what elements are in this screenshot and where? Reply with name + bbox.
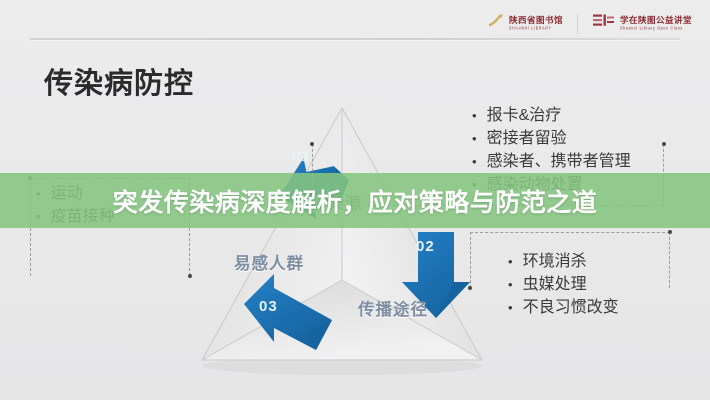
list-item: •报卡&治疗 <box>472 104 631 127</box>
arrow-number-01: 01 <box>292 148 311 165</box>
arrow-number-03: 03 <box>259 298 278 315</box>
callout-endpoint-route <box>668 230 672 234</box>
library-logo-text: 陕西省图书馆 SHAANXI LIBRARY <box>509 16 563 30</box>
triangle-label-route: 传播途径 <box>358 296 428 320</box>
list-item: •密接者留验 <box>472 127 631 150</box>
bullet-dot-icon: • <box>508 255 513 268</box>
list-item: •不良习惯改变 <box>508 296 619 319</box>
header-divider <box>30 38 680 40</box>
slide-screenshot: 陕西省图书馆 SHAANXI LIBRARY 学在陕图公益讲堂 Shaanxi … <box>0 0 710 400</box>
arrow-number-02: 02 <box>416 238 435 255</box>
list-item: •感染者、携带者管理 <box>472 150 631 173</box>
route-measures-list: •环境消杀 •虫媒处理 •不良习惯改变 <box>508 250 619 319</box>
bullet-dot-icon: • <box>508 301 513 314</box>
callout-endpoint-source <box>662 142 666 146</box>
list-item-label: 虫媒处理 <box>523 273 587 296</box>
list-item-label: 报卡&治疗 <box>487 104 562 127</box>
bullet-dot-icon: • <box>472 109 477 122</box>
callout-anchor-source <box>310 142 314 146</box>
callout-anchor-route <box>468 286 472 290</box>
list-item-label: 环境消杀 <box>523 250 587 273</box>
library-logo-cn: 陕西省图书馆 <box>509 16 563 25</box>
header-logos: 陕西省图书馆 SHAANXI LIBRARY 学在陕图公益讲堂 Shaanxi … <box>489 13 692 34</box>
list-item-label: 感染者、携带者管理 <box>487 150 631 173</box>
list-item: •环境消杀 <box>508 250 619 273</box>
list-item-label: 不良习惯改变 <box>523 296 619 319</box>
library-logo-en: SHAANXI LIBRARY <box>509 27 563 31</box>
logo-separator <box>577 14 578 34</box>
list-item-label: 密接者留验 <box>487 127 567 150</box>
open-class-logo-cn: 学在陕图公益讲堂 <box>620 16 692 25</box>
open-class-emblem-icon <box>592 13 616 34</box>
library-brush-icon <box>489 13 505 34</box>
bullet-dot-icon: • <box>472 132 477 145</box>
shaanxi-library-logo: 陕西省图书馆 SHAANXI LIBRARY <box>489 13 563 34</box>
open-class-logo-en: Shaanxi Library Open Class <box>620 27 692 31</box>
triangle-label-population: 易感人群 <box>234 250 304 274</box>
list-item: •虫媒处理 <box>508 273 619 296</box>
xuezai-shaantu-logo: 学在陕图公益讲堂 Shaanxi Library Open Class <box>592 13 692 34</box>
bullet-dot-icon: • <box>472 155 477 168</box>
overlay-banner-title: 突发传染病深度解析，应对策略与防范之道 <box>0 173 710 228</box>
callout-anchor-population <box>188 274 192 278</box>
open-class-logo-text: 学在陕图公益讲堂 Shaanxi Library Open Class <box>620 16 692 30</box>
bullet-dot-icon: • <box>508 278 513 291</box>
page-title: 传染病防控 <box>44 70 194 99</box>
